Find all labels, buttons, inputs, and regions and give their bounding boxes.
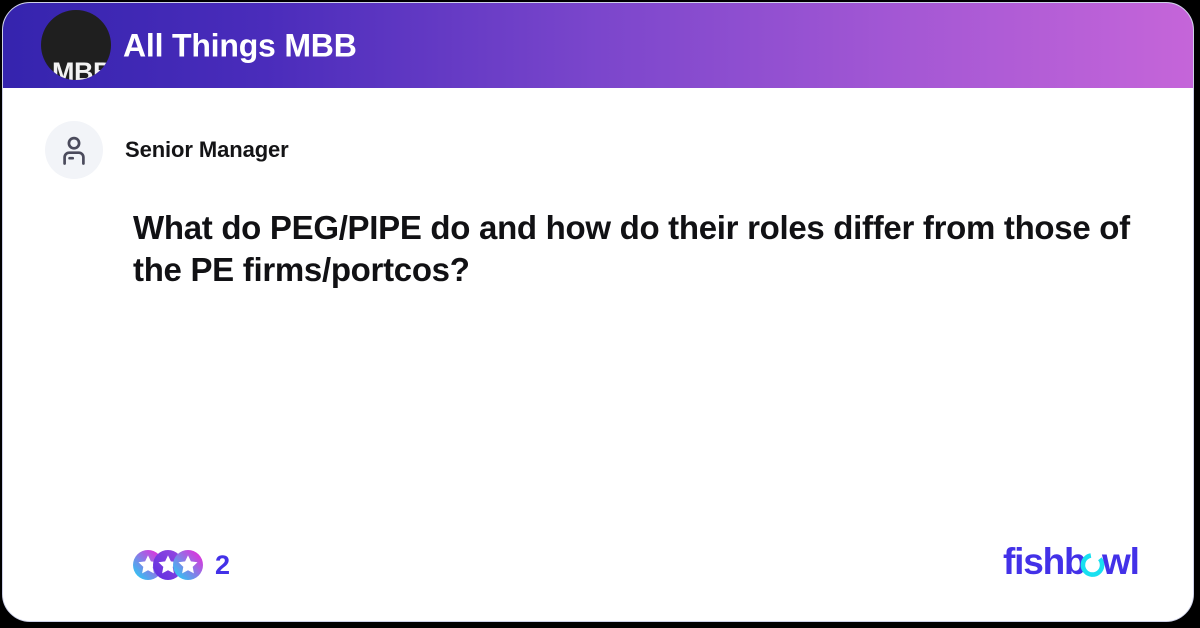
group-avatar: MBB	[41, 10, 111, 80]
post-card: MBB All Things MBB Senior Manager What d…	[2, 2, 1194, 622]
person-icon	[57, 133, 91, 167]
svg-text:wl: wl	[1101, 542, 1139, 582]
reactions-group[interactable]: 2	[133, 543, 230, 587]
group-title: All Things MBB	[123, 27, 357, 64]
post-question: What do PEG/PIPE do and how do their rol…	[133, 207, 1148, 291]
fishbowl-logo: fishb wl	[1003, 541, 1145, 585]
reaction-count: 2	[215, 552, 230, 579]
author-row: Senior Manager	[45, 121, 289, 179]
avatar	[45, 121, 103, 179]
author-name: Senior Manager	[125, 137, 289, 163]
post-footer: 2 fishb wl	[3, 543, 1193, 587]
group-avatar-label: MBB	[52, 59, 111, 80]
group-header: MBB All Things MBB	[3, 3, 1193, 88]
reaction-badge-stack[interactable]	[133, 550, 203, 580]
post-body: Senior Manager What do PEG/PIPE do and h…	[3, 89, 1193, 621]
svg-text:fishb: fishb	[1003, 542, 1086, 582]
star-reaction-icon[interactable]	[173, 550, 203, 580]
